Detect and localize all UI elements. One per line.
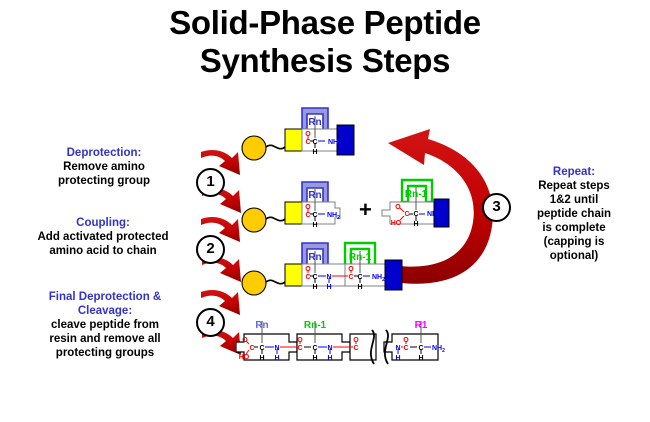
atom-label-alpha-h-1: H <box>418 355 423 362</box>
atom-label-alpha-h-n: H <box>259 355 264 362</box>
linker-squiggle <box>266 280 285 283</box>
atom-label-o-n: O <box>242 337 248 344</box>
atom-label-alpha-c-n: C <box>259 345 264 352</box>
atom-label-amide-h-3: H <box>395 355 400 362</box>
atom-label-amide-h: H <box>326 284 331 291</box>
atom-label-o-2: O <box>348 266 354 273</box>
molecule-row3-dipeptide: Rn Rn-1 O C C H N H O C C H NH2 <box>240 240 415 302</box>
atom-label-carbonyl-c-1: C <box>403 345 408 352</box>
step-number-3: 3 <box>482 193 511 222</box>
atom-label-alpha-c-n1: C <box>312 345 317 352</box>
atom-label-alpha-h: H <box>312 149 317 156</box>
atom-label-carbonyl-c: C <box>404 211 409 218</box>
molecule-row4-free-peptide: Rn O HO C C H N H Rn-1 O C C H N H O C <box>236 312 446 378</box>
atom-label-carbonyl-c-partial: C <box>353 345 358 352</box>
atom-label-alpha-c-1: C <box>418 345 423 352</box>
atom-label-alpha-h-2: H <box>357 284 362 291</box>
step-number-1: 1 <box>196 168 225 197</box>
atom-label-alpha-c: C <box>312 139 317 146</box>
atom-label-amide-n-2: N <box>327 345 332 352</box>
atom-label-rn-1: Rn-1 <box>304 320 327 331</box>
atom-label-alpha-c: C <box>413 211 418 218</box>
atom-label-amide-h-1: H <box>274 355 279 362</box>
atom-label-ho: HO <box>391 220 402 227</box>
atom-label-rn: Rn <box>308 190 321 201</box>
atom-label-alpha-h-1: H <box>312 284 317 291</box>
atom-label-alpha-h: H <box>413 221 418 228</box>
atom-label-r1: R1 <box>415 320 428 331</box>
atom-label-rn: Rn <box>308 252 321 263</box>
molecule-row1-protected-resin: Rn O C C H NH2 <box>240 105 360 167</box>
atom-label-carbonyl-c-1: C <box>305 274 310 281</box>
atom-label-carbonyl-c-n: C <box>249 345 254 352</box>
slide-canvas: Solid-Phase Peptide Synthesis Steps <box>0 0 650 422</box>
atom-label-alpha-h-n1: H <box>312 355 317 362</box>
atom-label-o-n1: O <box>297 337 303 344</box>
linker-squiggle <box>266 145 285 148</box>
atom-label-amide-n-1: N <box>274 345 279 352</box>
linker-squiggle <box>266 217 285 220</box>
resin-bead-icon <box>242 208 266 232</box>
atom-label-o-1: O <box>403 337 409 344</box>
carboxyl-notch <box>382 202 390 208</box>
atom-label-alpha-c-1: C <box>312 274 317 281</box>
resin-bead-icon <box>242 136 266 160</box>
atom-label-o: O <box>305 204 311 211</box>
atom-label-amide-n: N <box>326 274 331 281</box>
atom-label-rn-1: Rn-1 <box>405 189 428 200</box>
atom-label-alpha-h: H <box>312 222 317 229</box>
atom-label-carbonyl-c: C <box>305 139 310 146</box>
step-number-4: 4 <box>196 308 225 337</box>
atom-label-rn-1: Rn-1 <box>349 252 372 263</box>
atom-label-alpha-c: C <box>312 212 317 219</box>
atom-label-o: O <box>305 131 311 138</box>
atom-label-o-partial: O <box>353 337 359 344</box>
molecule-row2-deprotected-resin: Rn O C C H NH2 <box>240 180 360 240</box>
atom-label-amide-n-3: N <box>395 345 400 352</box>
atom-label-rn: Rn <box>308 117 321 128</box>
atom-label-carbonyl-c-2: C <box>348 274 353 281</box>
atom-label-carbonyl-c: C <box>305 212 310 219</box>
amine-protecting-block-blue <box>337 125 354 155</box>
atom-label-amide-h-2: H <box>327 355 332 362</box>
amine-protecting-block-blue <box>385 260 402 290</box>
atom-label-o-1: O <box>305 266 311 273</box>
atom-label-rn: Rn <box>255 320 268 331</box>
atom-label-alpha-c-2: C <box>357 274 362 281</box>
molecule-row2-incoming-amino-acid: Rn-1 O HO C C H NH2 <box>378 178 468 240</box>
atom-label-carbonyl-c-n1: C <box>297 345 302 352</box>
atom-label-o: O <box>395 204 401 211</box>
step-number-2: 2 <box>196 235 225 264</box>
resin-bead-icon <box>242 271 266 295</box>
atom-label-ho: HO <box>239 354 250 361</box>
